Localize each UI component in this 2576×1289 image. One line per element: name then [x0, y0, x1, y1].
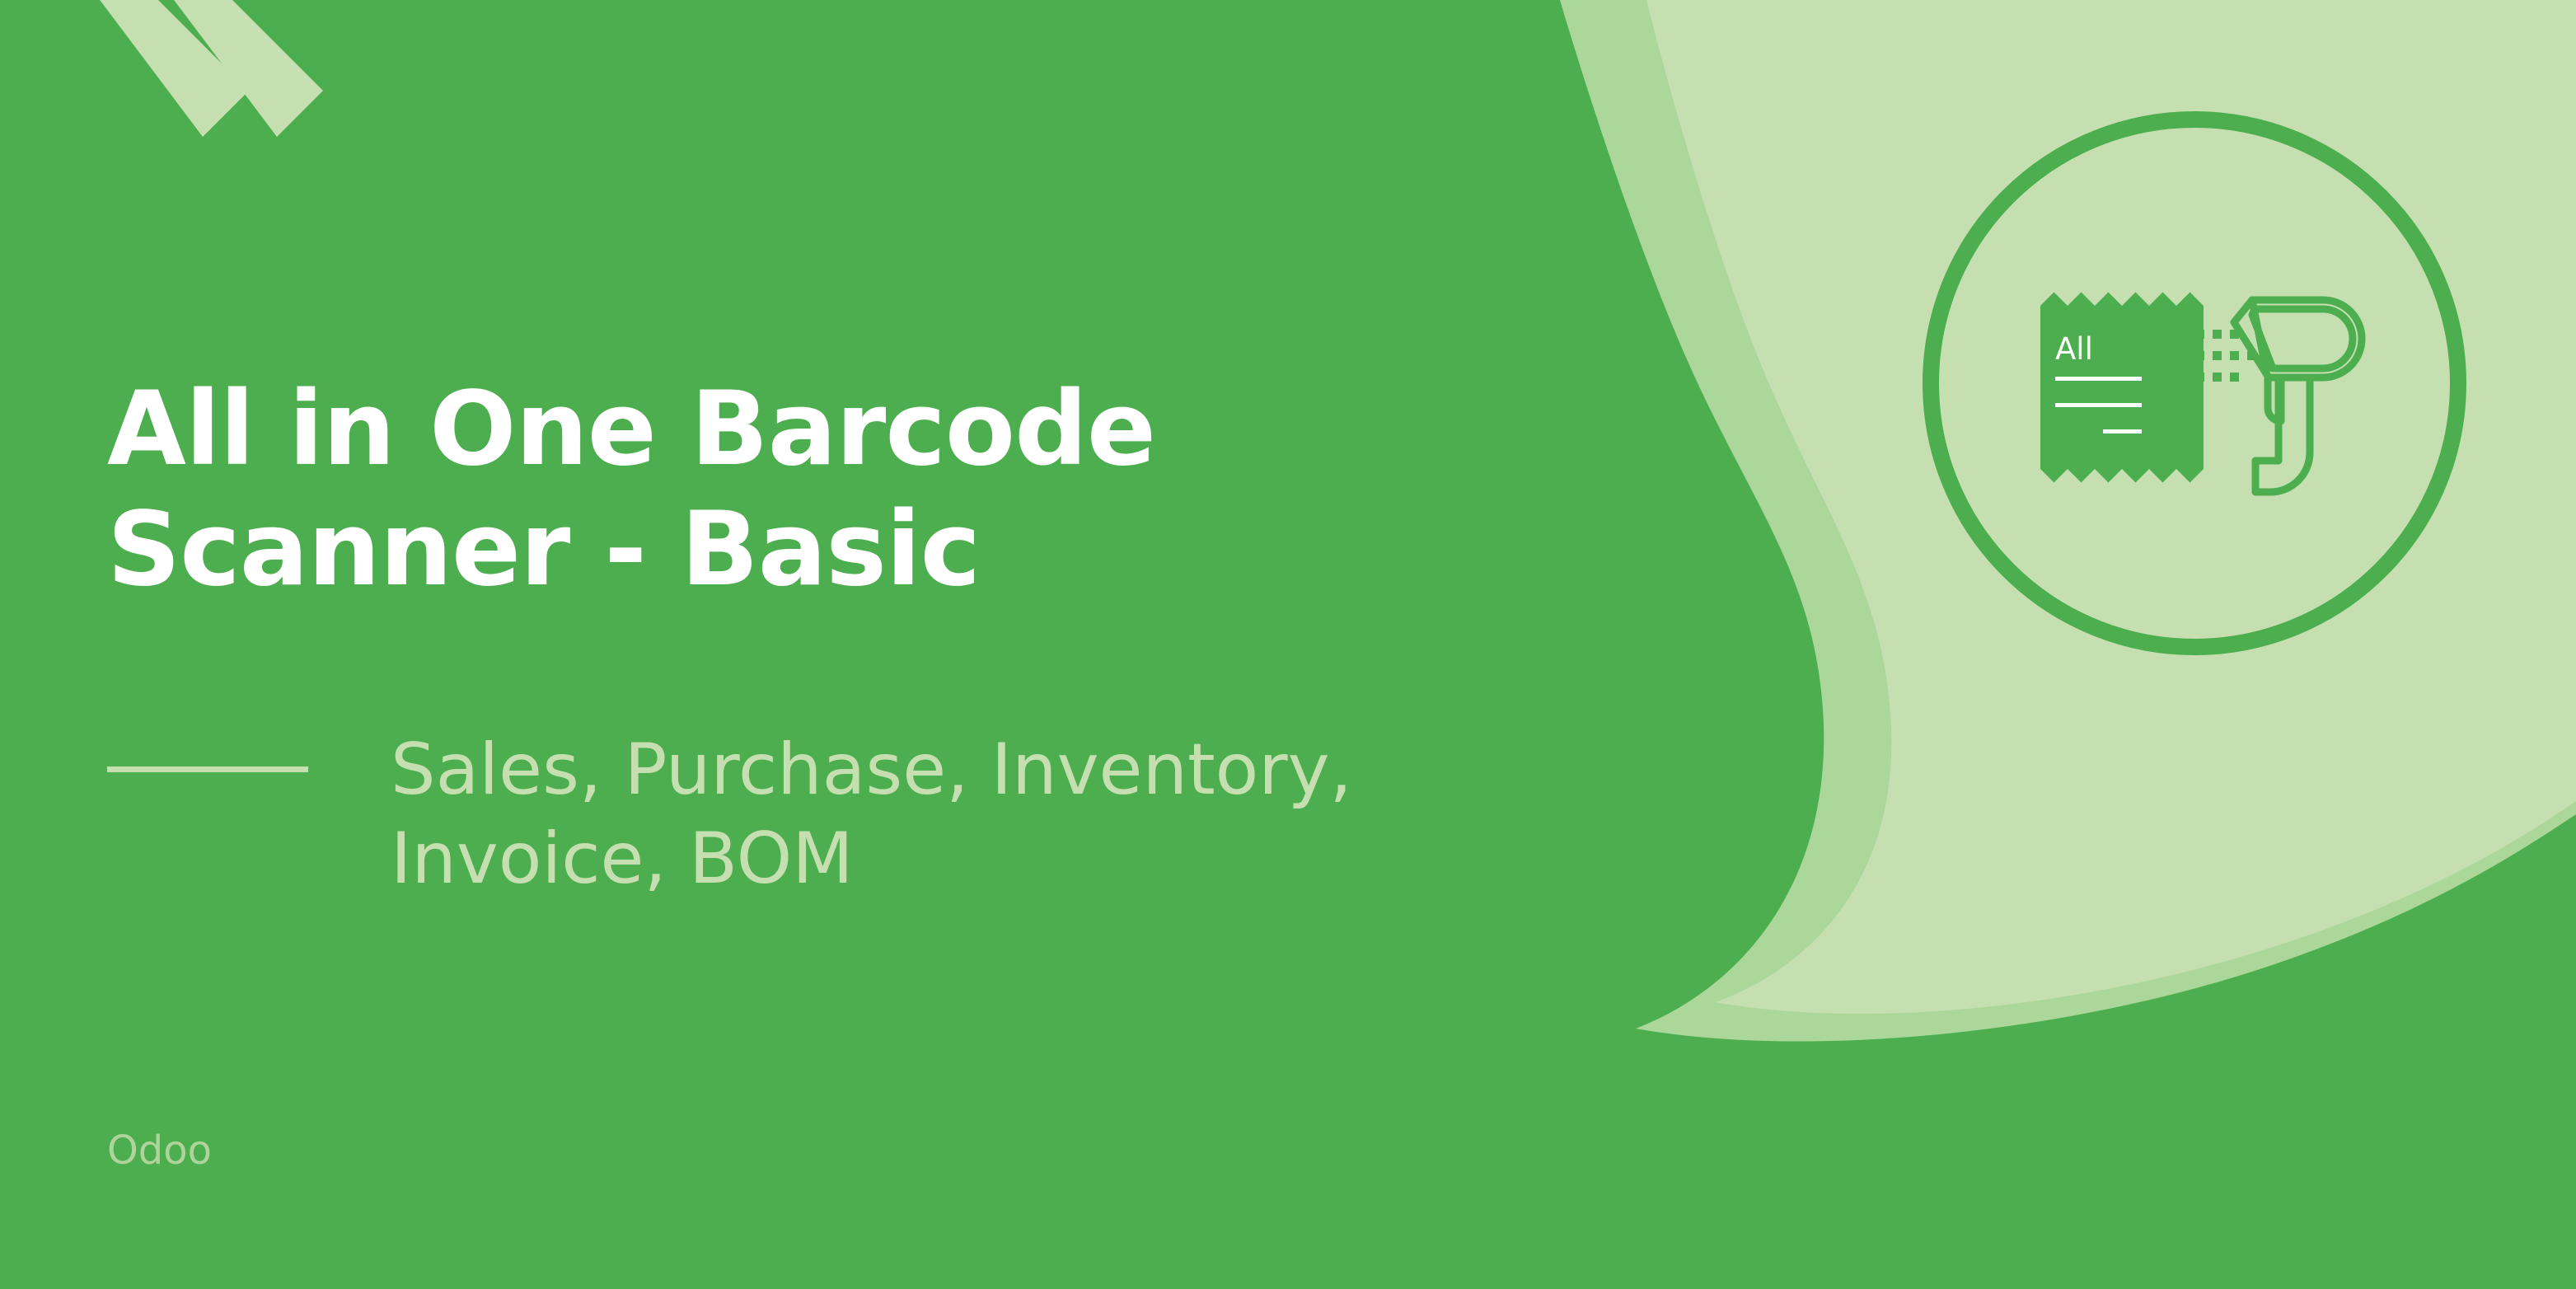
- title-block: All in One Barcode Scanner - Basic: [107, 369, 1343, 611]
- subtitle-rule: [107, 766, 308, 772]
- receipt-icon: All: [2040, 293, 2204, 483]
- barcode-scanner-badge-icon: All: [1923, 111, 2466, 655]
- page-subtitle: Sales, Purchase, Inventory, Invoice, BOM: [391, 725, 1352, 904]
- banner-content: All in One Barcode Scanner - Basic Sales…: [107, 0, 1632, 1289]
- brand-label: Odoo: [107, 1131, 212, 1170]
- receipt-line-3: [2103, 429, 2142, 434]
- barcode-scanner-gun-icon: [2234, 300, 2362, 492]
- receipt-line-2: [2055, 403, 2142, 407]
- subtitle-block: Sales, Purchase, Inventory, Invoice, BOM: [107, 725, 1590, 904]
- page-title: All in One Barcode Scanner - Basic: [107, 369, 1343, 611]
- receipt-line-1: [2055, 377, 2142, 381]
- receipt-label: All: [2055, 331, 2093, 367]
- product-banner: All in One Barcode Scanner - Basic Sales…: [0, 0, 2576, 1289]
